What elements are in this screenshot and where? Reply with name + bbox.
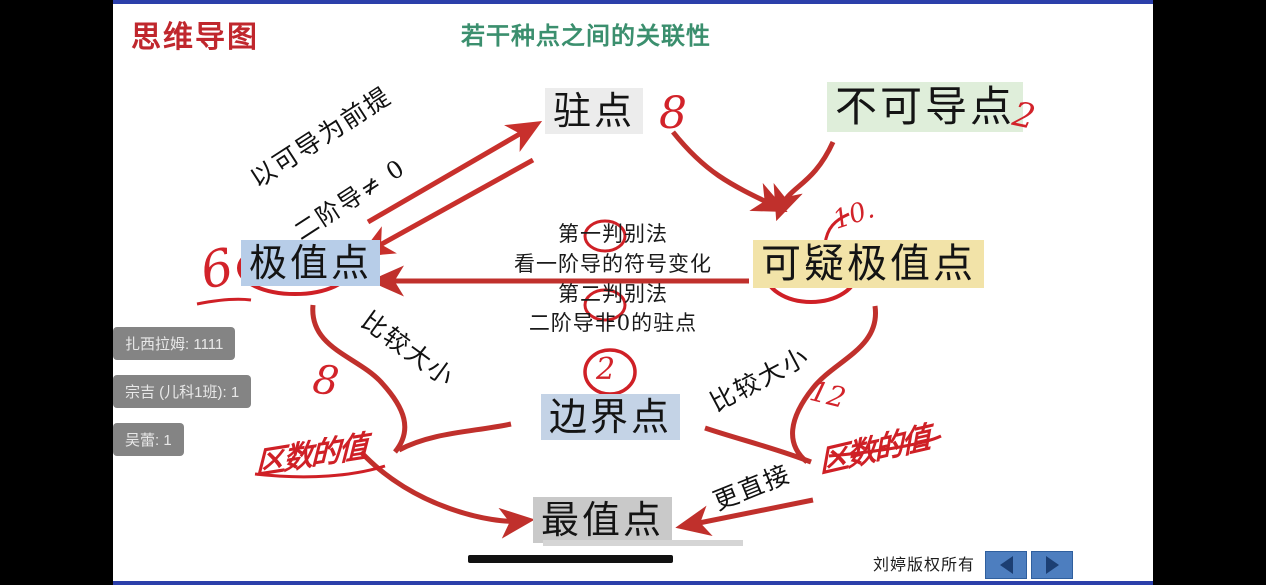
node-stationary-point[interactable]: 驻点 xyxy=(545,88,643,134)
slide-top-border xyxy=(113,0,1153,4)
copyright-text: 刘婷版权所有 xyxy=(873,551,975,575)
presentation-slide[interactable]: 思维导图 若干种点之间的关联性 xyxy=(113,0,1153,585)
slide-title: 若干种点之间的关联性 xyxy=(461,16,711,51)
chat-message: 吴蕾: 1 xyxy=(113,423,184,456)
pen-mark-8-middle: 8 xyxy=(310,356,342,405)
criteria-line-2: 看一阶导的符号变化 xyxy=(403,250,823,280)
chevron-left-icon xyxy=(1000,556,1013,574)
criteria-line-1: 第一判别法 xyxy=(403,220,823,250)
chat-message: 扎西拉姆: 1111 xyxy=(113,327,235,360)
screen: 思维导图 若干种点之间的关联性 xyxy=(0,0,1266,585)
next-slide-button[interactable] xyxy=(1031,551,1073,579)
node-boundary-point[interactable]: 边界点 xyxy=(541,394,680,440)
gray-underline-mark xyxy=(543,540,743,546)
annotation-compare-right: 比较大小 xyxy=(703,337,815,419)
node-extremum-point[interactable]: 极值点 xyxy=(241,240,380,286)
pen-mark-6: 6 xyxy=(195,237,238,300)
criteria-line-3: 第二判别法 xyxy=(403,280,823,310)
pen-mark-circled-2: 2 xyxy=(596,352,615,387)
node-optimum-point[interactable]: 最值点 xyxy=(533,497,672,543)
criteria-block: 第一判别法 看一阶导的符号变化 第二判别法 二阶导非0的驻点 xyxy=(403,220,823,339)
pen-scrawl-right: 区数的值 xyxy=(818,412,929,482)
criteria-line-4: 二阶导非0的驻点 xyxy=(403,309,823,339)
slide-bottom-border xyxy=(113,581,1153,585)
pen-mark-10: 10. xyxy=(829,194,878,235)
annotation-more-direct: 更直接 xyxy=(707,454,796,518)
black-bar-mark xyxy=(468,555,673,563)
chat-message: 宗吉 (儿科1班): 1 xyxy=(113,375,251,408)
prev-slide-button[interactable] xyxy=(985,551,1027,579)
slide-header-label: 思维导图 xyxy=(131,12,259,56)
pen-mark-8-top: 8 xyxy=(659,88,687,139)
node-nondifferentiable-point[interactable]: 不可导点 xyxy=(827,82,1023,132)
pen-mark-12: 12 xyxy=(807,374,850,415)
chevron-right-icon xyxy=(1046,556,1059,574)
pen-scrawl-left: 区数的值 xyxy=(255,421,366,483)
